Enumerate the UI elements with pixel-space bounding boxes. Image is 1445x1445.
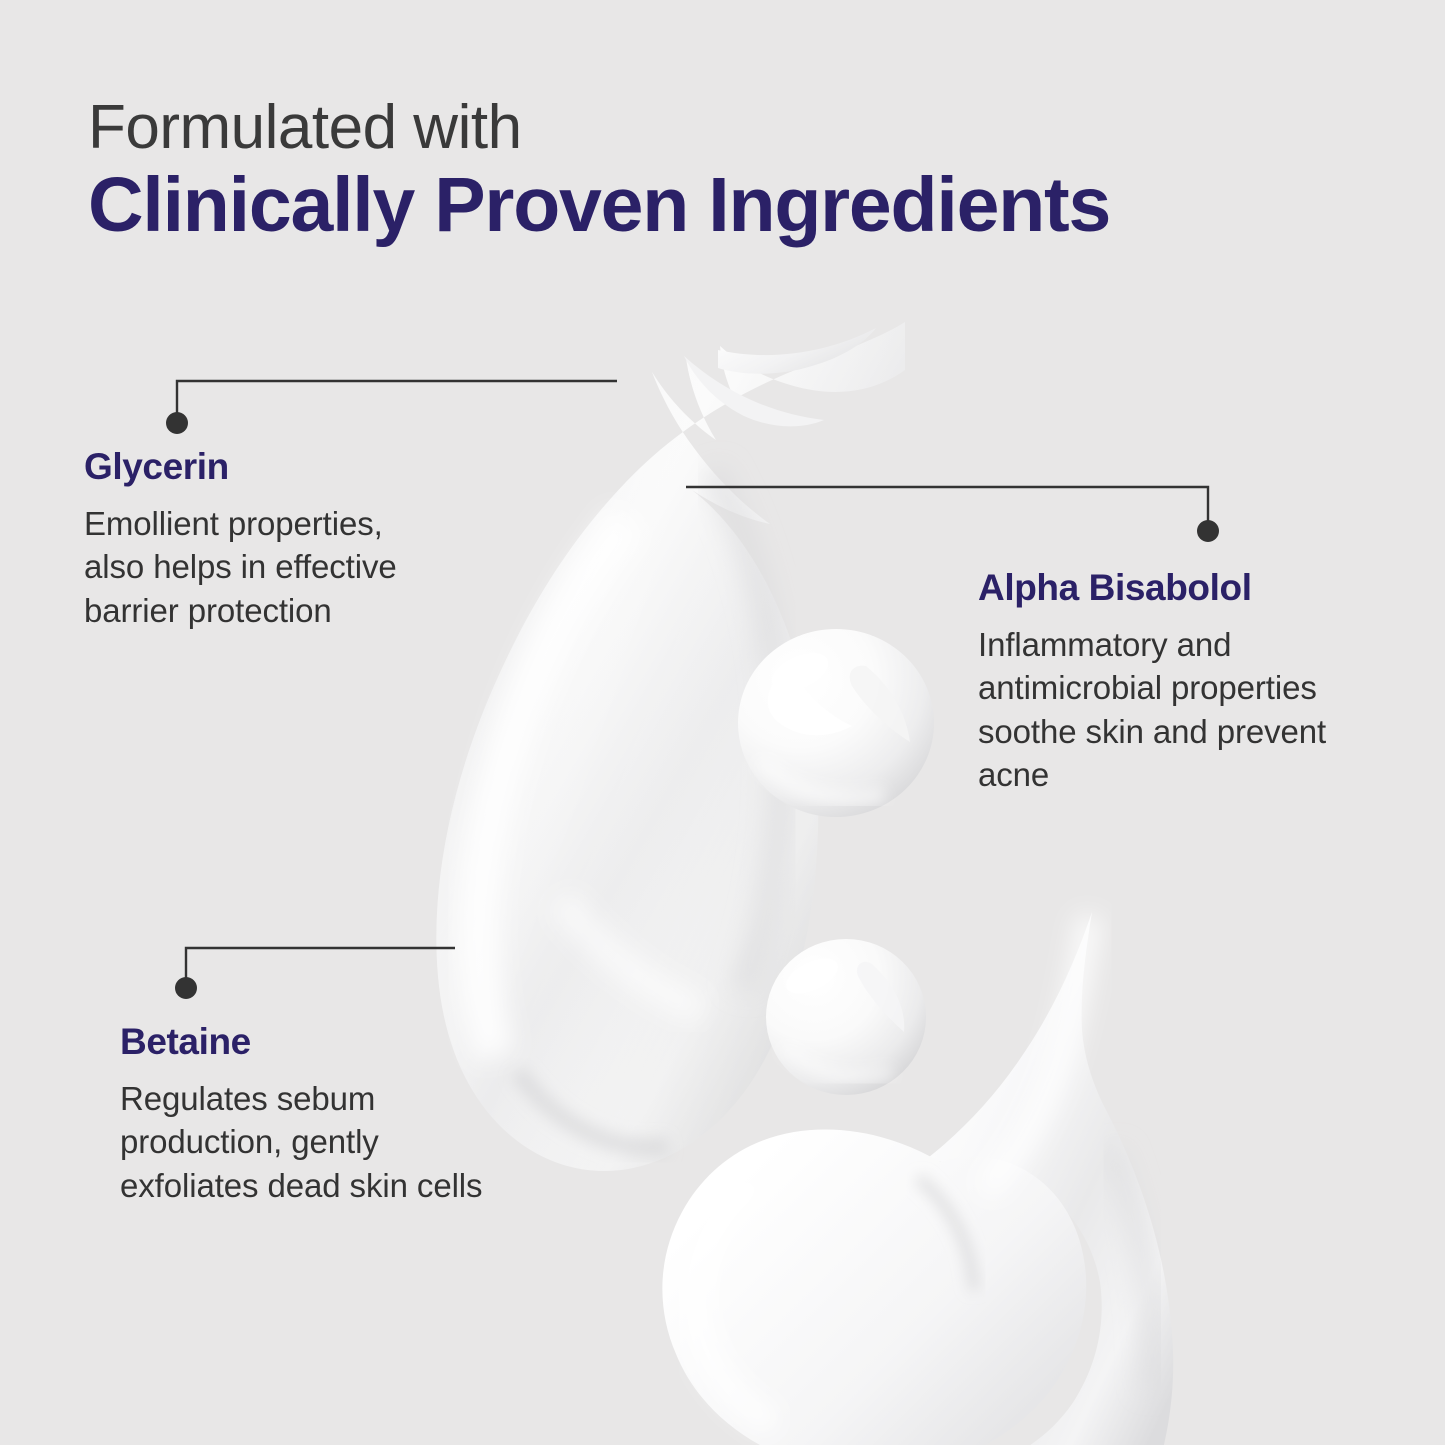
connector-dot-glycerin	[166, 412, 188, 434]
cream-dollop-upper	[738, 629, 934, 817]
callout-betaine-title: Betaine	[120, 1022, 490, 1063]
connector-dot-betaine	[175, 977, 197, 999]
page-headline: Formulated with Clinically Proven Ingred…	[88, 96, 1368, 246]
cream-swoosh-small	[662, 912, 1173, 1445]
callout-betaine: Betaine Regulates sebum production, gent…	[120, 1022, 490, 1207]
callout-glycerin: Glycerin Emollient properties, also help…	[84, 447, 414, 632]
callout-glycerin-title: Glycerin	[84, 447, 414, 488]
connector-alpha-bisabolol	[686, 487, 1219, 542]
callout-betaine-description: Regulates sebum production, gently exfol…	[120, 1077, 490, 1208]
connector-glycerin	[166, 381, 617, 434]
cream-dollop-lower	[766, 939, 926, 1095]
callout-glycerin-description: Emollient properties, also helps in effe…	[84, 502, 414, 633]
callout-alpha-bisabolol-description: Inflammatory and antimicrobial propertie…	[978, 623, 1378, 797]
callout-alpha-bisabolol: Alpha Bisabolol Inflammatory and antimic…	[978, 568, 1378, 797]
connector-betaine	[175, 948, 455, 999]
headline-line-1: Formulated with	[88, 96, 1368, 159]
callout-alpha-bisabolol-title: Alpha Bisabolol	[978, 568, 1378, 609]
ingredients-infographic: Formulated with Clinically Proven Ingred…	[0, 0, 1445, 1445]
cream-swoosh-large	[436, 322, 905, 1171]
connector-dot-alpha-bisabolol	[1197, 520, 1219, 542]
headline-line-2: Clinically Proven Ingredients	[88, 165, 1368, 246]
